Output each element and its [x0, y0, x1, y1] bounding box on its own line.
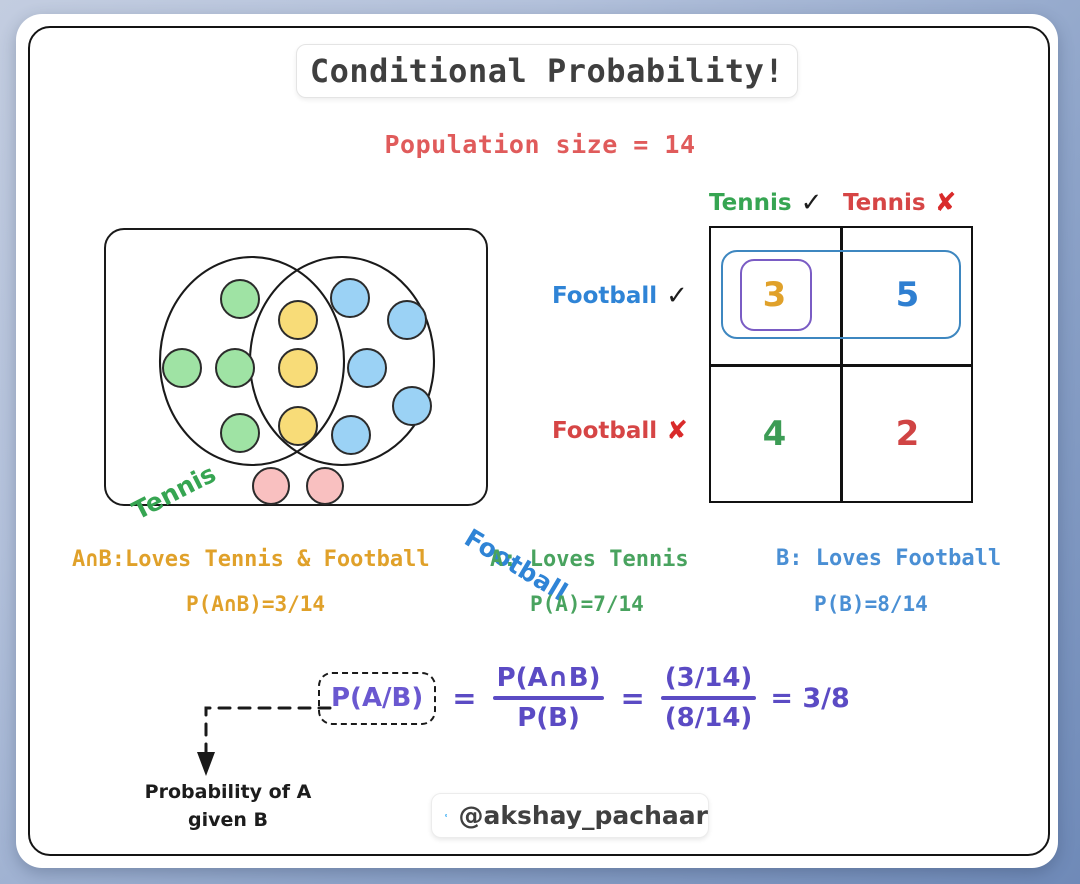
twitter-bird-icon — [445, 800, 447, 831]
table-header-football-yes: Football ✓ — [552, 283, 688, 309]
legend-a-prob: P(A)=7/14 — [530, 592, 644, 616]
cross-icon: ✘ — [666, 418, 688, 444]
legend-b-title: B: Loves Football — [776, 546, 1001, 571]
population-size-text: Population size = 14 — [0, 130, 1080, 159]
formula-fraction-2: (3/14) (8/14) — [661, 663, 757, 733]
legend-intersection-title: A∩B:Loves Tennis & Football — [72, 547, 430, 572]
venn-diagram: Tennis Football — [104, 228, 488, 506]
legend-intersection-prob: P(A∩B)=3/14 — [186, 592, 325, 616]
annotation-caption: Probability of A given B — [118, 779, 338, 834]
venn-circles — [104, 228, 488, 506]
formula-equals-1: = — [450, 681, 478, 715]
table-cell-tennis-yes-football-no: 4 — [709, 365, 840, 503]
table-cell-tennis-no-football-yes: 5 — [842, 226, 973, 364]
page-title-box: Conditional Probability! — [296, 44, 798, 98]
table-header-tennis-no: Tennis ✘ — [843, 190, 956, 216]
formula-fraction-1-denominator: P(B) — [513, 700, 584, 733]
table-cell-tennis-no-football-no: 2 — [842, 365, 973, 503]
cross-icon: ✘ — [935, 190, 957, 216]
table-header-football-no-label: Football — [552, 418, 657, 444]
legend-b-prob: P(B)=8/14 — [814, 592, 928, 616]
table-header-tennis-yes: Tennis ✓ — [709, 190, 822, 216]
venn-dots-tennis-only — [163, 280, 259, 452]
annotation-arrow-icon — [130, 690, 340, 785]
formula-equals-2: = — [618, 681, 646, 715]
venn-dots-intersection — [279, 301, 317, 445]
poster-canvas: Conditional Probability! Population size… — [0, 0, 1080, 884]
twitter-handle-text: @akshay_pachaar — [458, 801, 708, 830]
formula-fraction-1-numerator: P(A∩B) — [493, 663, 605, 696]
venn-dots-football-only — [331, 279, 431, 454]
table-cell-tennis-yes-football-yes: 3 — [709, 226, 840, 364]
venn-dots-neither — [253, 468, 343, 504]
page-title: Conditional Probability! — [310, 52, 784, 90]
table-header-tennis-no-label: Tennis — [843, 190, 926, 216]
formula-fraction-2-numerator: (3/14) — [661, 663, 757, 696]
table-header-tennis-yes-label: Tennis — [709, 190, 792, 216]
table-header-football-yes-label: Football — [552, 283, 657, 309]
formula-fraction-2-denominator: (8/14) — [661, 700, 757, 733]
legend-a-title: A: Loves Tennis — [490, 547, 689, 572]
table-header-football-no: Football ✘ — [552, 418, 688, 444]
formula-result: = 3/8 — [770, 683, 849, 714]
check-icon: ✓ — [666, 283, 688, 309]
formula-lhs: P(A/B) — [331, 683, 423, 713]
check-icon: ✓ — [801, 190, 823, 216]
twitter-handle-badge[interactable]: @akshay_pachaar — [431, 793, 709, 838]
conditional-probability-formula: P(A/B) = P(A∩B) P(B) = (3/14) (8/14) = 3… — [318, 663, 850, 733]
formula-fraction-1: P(A∩B) P(B) — [493, 663, 605, 733]
